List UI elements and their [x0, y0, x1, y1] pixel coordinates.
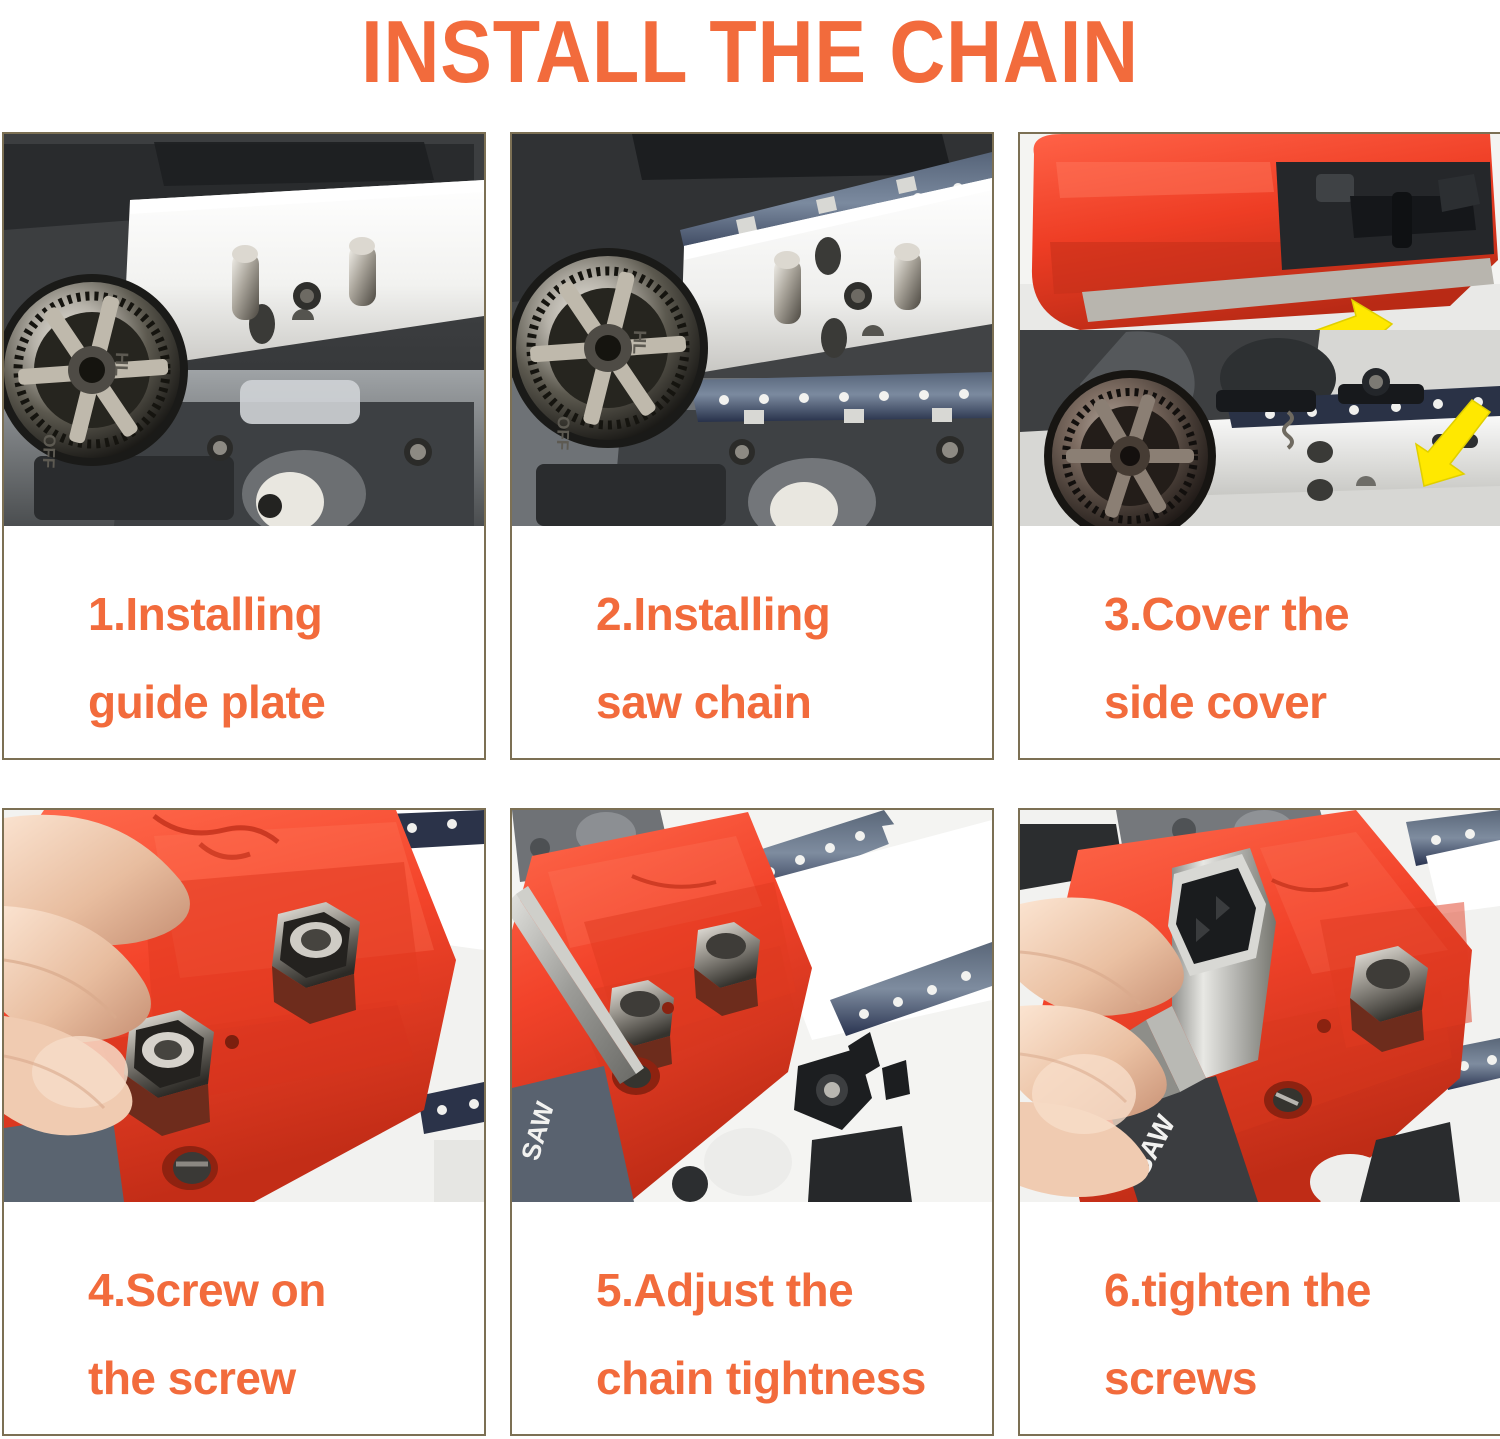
- step-caption-1-line2: guide plate: [88, 658, 484, 746]
- saw-chain-illustration: HL OFF: [512, 134, 992, 526]
- svg-text:HL: HL: [111, 352, 132, 377]
- step-caption-3-line2: side cover: [1104, 658, 1500, 746]
- step-photo-6: SAW: [1020, 810, 1500, 1202]
- step-caption-1-line1: 1.Installing: [88, 588, 322, 640]
- step-caption-2: 2.Installing saw chain: [512, 526, 992, 758]
- screw-on-nut-illustration: [4, 810, 484, 1202]
- tighten-screws-illustration: SAW: [1020, 810, 1500, 1202]
- nut-right-6: [1350, 946, 1428, 1052]
- step-caption-2-line1: 2.Installing: [596, 588, 830, 640]
- step-caption-6: 6.tighten the screws: [1020, 1202, 1500, 1434]
- svg-text:OFF: OFF: [39, 434, 59, 469]
- step-caption-1: 1.Installing guide plate: [4, 526, 484, 758]
- side-cover-illustration: [1020, 134, 1500, 526]
- svg-text:OFF: OFF: [553, 416, 573, 451]
- step-photo-5: SAW: [512, 810, 992, 1202]
- step-photo-4: [4, 810, 484, 1202]
- step-caption-3: 3.Cover the side cover: [1020, 526, 1500, 758]
- nut-lower: [124, 1010, 214, 1136]
- page-title: INSTALL THE CHAIN: [90, 0, 1410, 112]
- step-caption-4-line2: the screw: [88, 1334, 484, 1422]
- step-caption-5-line1: 5.Adjust the: [596, 1264, 853, 1316]
- adjust-tension-illustration: SAW: [512, 810, 992, 1202]
- instruction-sheet: INSTALL THE CHAIN: [0, 0, 1500, 1439]
- step-caption-2-line2: saw chain: [596, 658, 992, 746]
- step-card-5: SAW: [510, 808, 994, 1436]
- step-caption-6-line2: screws: [1104, 1334, 1500, 1422]
- step-photo-3: [1020, 134, 1500, 526]
- guide-plate-illustration: HL OFF: [4, 134, 484, 526]
- step-card-6: SAW: [1018, 808, 1500, 1436]
- nut-upper-5: [694, 922, 760, 1016]
- step-caption-4: 4.Screw on the screw: [4, 1202, 484, 1434]
- nut-upper: [272, 902, 360, 1024]
- step-card-2: HL OFF 2.Installing saw chain: [510, 132, 994, 760]
- step-photo-1: HL OFF: [4, 134, 484, 526]
- step-caption-4-line1: 4.Screw on: [88, 1264, 326, 1316]
- step-caption-5: 5.Adjust the chain tightness: [512, 1202, 992, 1434]
- steps-grid: HL OFF 1.Installing guide plate: [2, 132, 1498, 1436]
- step-card-1: HL OFF 1.Installing guide plate: [2, 132, 486, 760]
- step-photo-2: HL OFF: [512, 134, 992, 526]
- step-card-3: 3.Cover the side cover: [1018, 132, 1500, 760]
- step-caption-6-line1: 6.tighten the: [1104, 1264, 1371, 1316]
- step-card-4: 4.Screw on the screw: [2, 808, 486, 1436]
- step-caption-3-line1: 3.Cover the: [1104, 588, 1349, 640]
- svg-text:HL: HL: [629, 330, 650, 355]
- step-caption-5-line2: chain tightness: [596, 1334, 992, 1422]
